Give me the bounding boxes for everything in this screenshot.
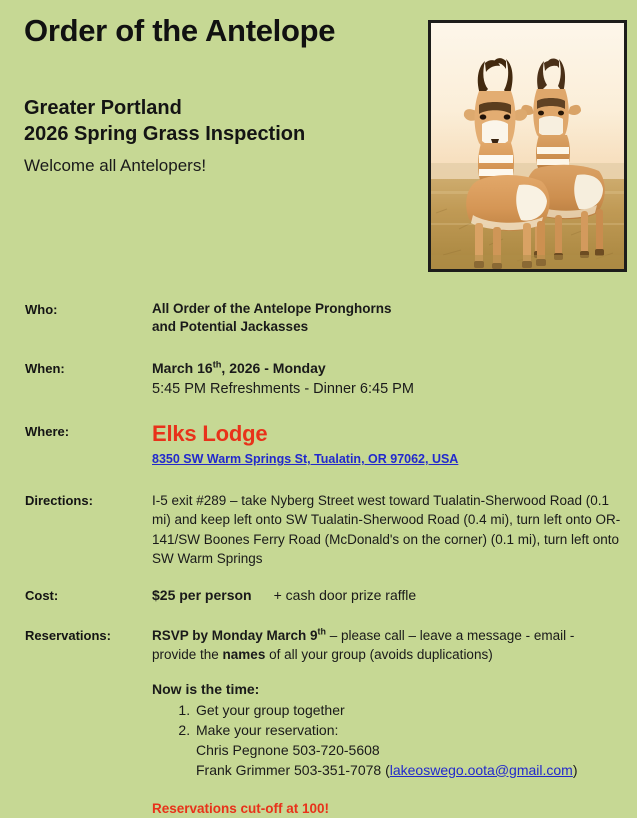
value-where: Elks Lodge 8350 SW Warm Springs St, Tual… <box>152 422 625 470</box>
who-line-1: All Order of the Antelope Pronghorns <box>152 300 625 318</box>
contact-2-prefix: Frank Grimmer 503-351-7078 ( <box>196 762 390 778</box>
when-times: 5:45 PM Refreshments - Dinner 6:45 PM <box>152 379 625 399</box>
contact-line-1: Chris Pegnone 503-720-5608 <box>196 741 625 761</box>
row-when: When: March 16th, 2026 - Monday 5:45 PM … <box>0 359 637 400</box>
when-date-suffix: , 2026 - Monday <box>221 360 325 376</box>
details-section: Who: All Order of the Antelope Pronghorn… <box>0 300 637 818</box>
welcome-line: Welcome all Antelopers! <box>24 155 414 178</box>
reservations-cutoff-notice: Reservations cut-off at 100! <box>127 800 637 818</box>
rsvp-text: RSVP by Monday March 9th – please call –… <box>152 626 622 664</box>
step-2-label: Make your reservation: <box>196 722 338 738</box>
value-who: All Order of the Antelope Pronghorns and… <box>152 300 625 337</box>
page-title: Order of the Antelope <box>24 14 414 49</box>
venue-name: Elks Lodge <box>152 422 625 447</box>
contact-2-suffix: ) <box>573 762 578 778</box>
row-where: Where: Elks Lodge 8350 SW Warm Springs S… <box>0 422 637 470</box>
antelope-photo-illustration <box>431 23 624 269</box>
value-reservations: RSVP by Monday March 9th – please call –… <box>152 626 625 780</box>
rsvp-instructions-2: of all your group (avoids duplications) <box>265 647 492 662</box>
header-block: Order of the Antelope Greater Portland 2… <box>24 14 414 178</box>
subtitle-block: Greater Portland 2026 Spring Grass Inspe… <box>24 95 414 178</box>
steps-list: Get your group together Make your reserv… <box>152 701 625 781</box>
antelope-photo <box>428 20 627 272</box>
subtitle-line-2: 2026 Spring Grass Inspection <box>24 121 414 147</box>
contact-line-2: Frank Grimmer 503-351-7078 (lakeoswego.o… <box>196 761 625 781</box>
rsvp-deadline-ordinal: th <box>318 627 326 637</box>
row-directions: Directions: I-5 exit #289 – take Nyberg … <box>0 491 637 568</box>
when-date-prefix: March 16 <box>152 360 213 376</box>
label-where: Where: <box>25 422 152 441</box>
subtitle-line-1: Greater Portland <box>24 95 414 121</box>
directions-text: I-5 exit #289 – take Nyberg Street west … <box>152 491 622 568</box>
list-item: Get your group together <box>194 701 625 721</box>
cost-extra: + cash door prize raffle <box>274 587 417 603</box>
flyer-page: Order of the Antelope Greater Portland 2… <box>0 0 637 772</box>
email-link[interactable]: lakeoswego.oota@gmail.com <box>390 762 573 778</box>
label-who: Who: <box>25 300 152 319</box>
rsvp-deadline: RSVP by Monday March 9 <box>152 628 318 643</box>
row-reservations: Reservations: RSVP by Monday March 9th –… <box>0 626 637 780</box>
label-cost: Cost: <box>25 586 152 605</box>
cost-amount: $25 per person <box>152 587 252 603</box>
now-is-the-time-heading: Now is the time: <box>152 680 625 700</box>
who-line-2: and Potential Jackasses <box>152 318 625 336</box>
rsvp-names-emphasis: names <box>223 647 266 662</box>
venue-address-link[interactable]: 8350 SW Warm Springs St, Tualatin, OR 97… <box>152 451 458 467</box>
when-date: March 16th, 2026 - Monday <box>152 359 625 379</box>
value-cost: $25 per person+ cash door prize raffle <box>152 586 625 606</box>
value-directions: I-5 exit #289 – take Nyberg Street west … <box>152 491 625 568</box>
row-who: Who: All Order of the Antelope Pronghorn… <box>0 300 637 337</box>
label-reservations: Reservations: <box>25 626 152 645</box>
row-cost: Cost: $25 per person+ cash door prize ra… <box>0 586 637 606</box>
label-directions: Directions: <box>25 491 152 510</box>
value-when: March 16th, 2026 - Monday 5:45 PM Refres… <box>152 359 625 400</box>
label-when: When: <box>25 359 152 378</box>
